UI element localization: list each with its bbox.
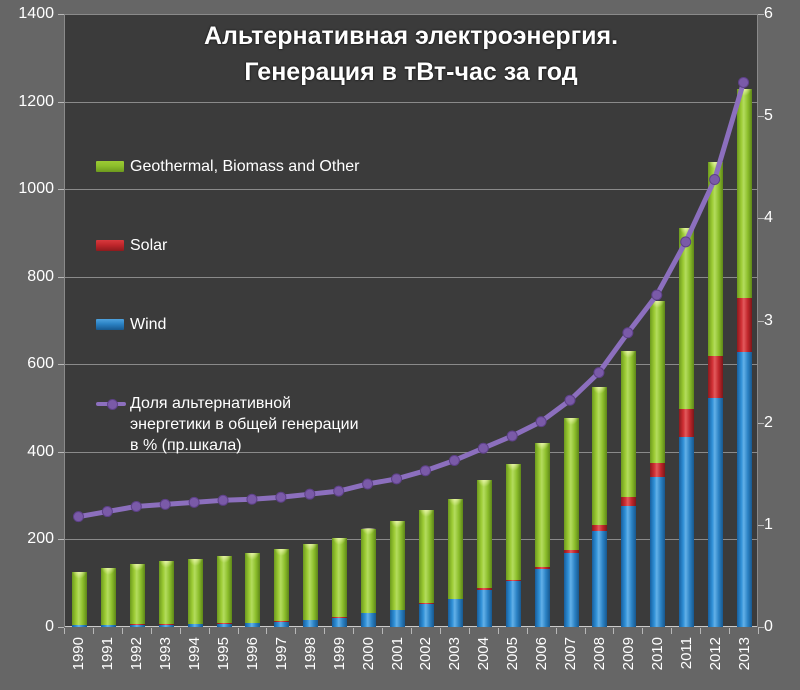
bar-segment[interactable] bbox=[101, 568, 116, 625]
bar-segment[interactable] bbox=[159, 625, 174, 627]
bar-segment[interactable] bbox=[159, 561, 174, 624]
y-axis-left-tickmark bbox=[58, 102, 64, 103]
bar-segment[interactable] bbox=[303, 620, 318, 627]
bar-segment[interactable] bbox=[477, 480, 492, 589]
bar-segment[interactable] bbox=[419, 604, 434, 627]
y-axis-right-tick-label: 2 bbox=[764, 414, 798, 432]
legend-item-label: Wind bbox=[130, 314, 166, 335]
legend-item[interactable]: Доля альтернативной энергетики в общей г… bbox=[96, 393, 359, 456]
legend-item[interactable]: Wind bbox=[96, 314, 166, 335]
bar-segment[interactable] bbox=[390, 521, 405, 610]
y-axis-left-tickmark bbox=[58, 364, 64, 365]
x-axis-tickmark bbox=[266, 628, 267, 634]
y-axis-left-tickmark bbox=[58, 452, 64, 453]
bar-group[interactable] bbox=[245, 553, 260, 627]
bar-segment[interactable] bbox=[101, 625, 116, 627]
y-axis-right-tickmark bbox=[758, 14, 764, 15]
bar-segment[interactable] bbox=[72, 625, 87, 627]
bar-segment[interactable] bbox=[274, 549, 289, 622]
bar-group[interactable] bbox=[303, 544, 318, 627]
x-axis-tickmark bbox=[353, 628, 354, 634]
x-axis-tick-label: 1999 bbox=[331, 637, 348, 670]
gridline bbox=[65, 189, 757, 190]
x-axis-tick-label: 1995 bbox=[215, 637, 232, 670]
x-axis-tickmark bbox=[93, 628, 94, 634]
x-axis-tickmark bbox=[729, 628, 730, 634]
bar-group[interactable] bbox=[506, 464, 521, 627]
y-axis-right-tickmark bbox=[758, 525, 764, 526]
bar-segment[interactable] bbox=[708, 162, 723, 356]
x-axis-tick-label: 1996 bbox=[244, 637, 261, 670]
chart-container: Альтернативная электроэнергия. Генерация… bbox=[0, 0, 800, 690]
y-axis-left-tickmark bbox=[58, 14, 64, 15]
bar-segment[interactable] bbox=[708, 356, 723, 398]
bar-segment[interactable] bbox=[361, 613, 376, 627]
y-axis-right-tick-label: 3 bbox=[764, 312, 798, 330]
x-axis-tickmark bbox=[324, 628, 325, 634]
x-axis-tick-label: 2001 bbox=[389, 637, 406, 670]
bar-segment[interactable] bbox=[650, 477, 665, 627]
x-axis-tickmark bbox=[209, 628, 210, 634]
bar-segment[interactable] bbox=[477, 590, 492, 627]
bar-group[interactable] bbox=[130, 564, 145, 627]
x-axis-tickmark bbox=[556, 628, 557, 634]
bar-segment[interactable] bbox=[245, 623, 260, 627]
bar-segment[interactable] bbox=[592, 387, 607, 525]
y-axis-left-tick-label: 1000 bbox=[0, 180, 54, 198]
y-axis-right-tick-label: 0 bbox=[764, 618, 798, 636]
bar-segment[interactable] bbox=[188, 624, 203, 627]
x-axis-tickmark bbox=[700, 628, 701, 634]
bar-group[interactable] bbox=[535, 443, 550, 627]
bar-segment[interactable] bbox=[188, 559, 203, 624]
bar-group[interactable] bbox=[592, 387, 607, 627]
y-axis-left-tick-label: 1200 bbox=[0, 93, 54, 111]
legend-line-marker-icon bbox=[96, 397, 126, 410]
legend-item[interactable]: Solar bbox=[96, 235, 167, 256]
bar-segment[interactable] bbox=[477, 588, 492, 590]
x-axis-tickmark bbox=[613, 628, 614, 634]
x-axis-tick-label: 2005 bbox=[504, 637, 521, 670]
bar-group[interactable] bbox=[101, 568, 116, 627]
bar-segment[interactable] bbox=[708, 398, 723, 627]
bar-segment[interactable] bbox=[506, 581, 521, 627]
bar-group[interactable] bbox=[188, 559, 203, 627]
chart-title-line-1: Альтернативная электроэнергия. bbox=[64, 18, 758, 54]
y-axis-left-tick-label: 800 bbox=[0, 268, 54, 286]
bar-segment[interactable] bbox=[621, 506, 636, 627]
bar-segment[interactable] bbox=[679, 437, 694, 627]
x-axis-tickmark bbox=[64, 628, 65, 634]
x-axis-tickmark bbox=[151, 628, 152, 634]
y-axis-left-tickmark bbox=[58, 277, 64, 278]
x-axis-tickmark bbox=[382, 628, 383, 634]
y-axis-right-tick-label: 4 bbox=[764, 209, 798, 227]
bar-group[interactable] bbox=[621, 351, 636, 627]
bar-group[interactable] bbox=[737, 89, 752, 627]
x-axis-tick-label: 2000 bbox=[360, 637, 377, 670]
y-axis-left-tickmark bbox=[58, 539, 64, 540]
bar-segment[interactable] bbox=[506, 580, 521, 582]
x-axis-tick-label: 1993 bbox=[157, 637, 174, 670]
x-axis-tick-label: 2007 bbox=[562, 637, 579, 670]
bar-segment[interactable] bbox=[621, 497, 636, 506]
bar-segment[interactable] bbox=[217, 556, 232, 623]
legend-swatch-icon bbox=[96, 319, 124, 330]
x-axis-tick-label: 2013 bbox=[736, 637, 753, 670]
x-axis-tick-label: 2009 bbox=[620, 637, 637, 670]
bar-segment[interactable] bbox=[448, 599, 463, 627]
legend-item-label: Geothermal, Biomass and Other bbox=[130, 156, 359, 177]
y-axis-left-tick-label: 400 bbox=[0, 443, 54, 461]
x-axis-tickmark bbox=[642, 628, 643, 634]
x-axis-tick-label: 2002 bbox=[417, 637, 434, 670]
x-axis-tick-label: 2011 bbox=[678, 637, 695, 669]
bar-segment[interactable] bbox=[737, 298, 752, 352]
y-axis-left-tick-label: 1400 bbox=[0, 5, 54, 23]
bar-segment[interactable] bbox=[332, 538, 347, 617]
bar-group[interactable] bbox=[679, 228, 694, 627]
y-axis-right-tick-label: 6 bbox=[764, 5, 798, 23]
y-axis-right-tickmark bbox=[758, 218, 764, 219]
plot-area bbox=[64, 14, 758, 627]
legend-item[interactable]: Geothermal, Biomass and Other bbox=[96, 156, 359, 177]
y-axis-left-tick-label: 200 bbox=[0, 530, 54, 548]
bar-group[interactable] bbox=[419, 510, 434, 627]
x-axis-tickmark bbox=[527, 628, 528, 634]
bar-segment[interactable] bbox=[130, 564, 145, 624]
x-axis-tickmark bbox=[758, 628, 759, 634]
bar-group[interactable] bbox=[564, 418, 579, 627]
x-axis-tickmark bbox=[180, 628, 181, 634]
x-axis-tick-label: 2008 bbox=[591, 637, 608, 670]
bar-group[interactable] bbox=[477, 480, 492, 627]
y-axis-right-tick-label: 1 bbox=[764, 516, 798, 534]
chart-title-line-2: Генерация в тВт-час за год bbox=[64, 54, 758, 90]
bar-segment[interactable] bbox=[564, 553, 579, 627]
bar-segment[interactable] bbox=[535, 567, 550, 569]
x-axis-tickmark bbox=[122, 628, 123, 634]
bar-group[interactable] bbox=[72, 572, 87, 627]
bar-segment[interactable] bbox=[245, 553, 260, 622]
bar-group[interactable] bbox=[448, 499, 463, 627]
bar-group[interactable] bbox=[650, 301, 665, 627]
bar-segment[interactable] bbox=[737, 352, 752, 627]
x-axis-tickmark bbox=[585, 628, 586, 634]
bar-segment[interactable] bbox=[679, 409, 694, 437]
x-axis-tick-label: 2012 bbox=[707, 637, 724, 670]
x-axis-tickmark bbox=[498, 628, 499, 634]
x-axis-tick-label: 2006 bbox=[533, 637, 550, 670]
y-axis-right-tick-label: 5 bbox=[764, 107, 798, 125]
bar-group[interactable] bbox=[332, 538, 347, 627]
bar-segment[interactable] bbox=[679, 228, 694, 409]
x-axis-tickmark bbox=[295, 628, 296, 634]
bar-group[interactable] bbox=[390, 521, 405, 627]
chart-title: Альтернативная электроэнергия. Генерация… bbox=[64, 18, 758, 91]
bar-group[interactable] bbox=[708, 162, 723, 627]
bar-segment[interactable] bbox=[72, 572, 87, 625]
bar-segment[interactable] bbox=[506, 464, 521, 580]
bar-segment[interactable] bbox=[390, 610, 405, 627]
x-axis-tick-label: 2004 bbox=[475, 637, 492, 670]
bar-segment[interactable] bbox=[535, 569, 550, 627]
bar-segment[interactable] bbox=[564, 418, 579, 549]
y-axis-right-tickmark bbox=[758, 423, 764, 424]
bar-segment[interactable] bbox=[130, 625, 145, 627]
bar-segment[interactable] bbox=[535, 443, 550, 567]
bar-segment[interactable] bbox=[650, 301, 665, 463]
bar-segment[interactable] bbox=[274, 622, 289, 627]
x-axis-tickmark bbox=[671, 628, 672, 634]
x-axis-tick-label: 1991 bbox=[99, 637, 116, 670]
x-axis-tick-label: 1997 bbox=[273, 637, 290, 670]
bar-group[interactable] bbox=[274, 549, 289, 627]
bar-group[interactable] bbox=[361, 528, 376, 627]
x-axis-tickmark bbox=[440, 628, 441, 634]
bar-segment[interactable] bbox=[303, 544, 318, 620]
y-axis-left-tick-label: 600 bbox=[0, 355, 54, 373]
gridline bbox=[65, 102, 757, 103]
x-axis-tick-label: 2003 bbox=[446, 637, 463, 670]
x-axis-tick-label: 1998 bbox=[302, 637, 319, 670]
x-axis-tickmark bbox=[469, 628, 470, 634]
bar-segment[interactable] bbox=[592, 531, 607, 627]
bar-segment[interactable] bbox=[737, 89, 752, 298]
x-axis-tick-label: 2010 bbox=[649, 637, 666, 670]
bar-segment[interactable] bbox=[332, 618, 347, 627]
bar-group[interactable] bbox=[159, 561, 174, 627]
bar-segment[interactable] bbox=[419, 510, 434, 603]
gridline bbox=[65, 14, 757, 15]
bar-segment[interactable] bbox=[621, 351, 636, 497]
x-axis-tickmark bbox=[238, 628, 239, 634]
y-axis-right-tickmark bbox=[758, 321, 764, 322]
bar-segment[interactable] bbox=[592, 525, 607, 530]
bar-segment[interactable] bbox=[650, 463, 665, 477]
x-axis-tick-label: 1992 bbox=[128, 637, 145, 670]
gridline bbox=[65, 277, 757, 278]
bar-segment[interactable] bbox=[564, 550, 579, 553]
bar-segment[interactable] bbox=[448, 499, 463, 599]
bar-segment[interactable] bbox=[217, 624, 232, 628]
y-axis-left-tickmark bbox=[58, 189, 64, 190]
bar-segment[interactable] bbox=[361, 529, 376, 614]
legend-swatch-icon bbox=[96, 240, 124, 251]
legend-item-label: Solar bbox=[130, 235, 167, 256]
legend-swatch-icon bbox=[96, 161, 124, 172]
legend-item-label: Доля альтернативной энергетики в общей г… bbox=[130, 393, 359, 456]
x-axis-tick-label: 1994 bbox=[186, 637, 203, 670]
y-axis-right-tickmark bbox=[758, 116, 764, 117]
x-axis-tick-label: 1990 bbox=[70, 637, 87, 670]
y-axis-left-tick-label: 0 bbox=[0, 618, 54, 636]
bar-group[interactable] bbox=[217, 556, 232, 627]
x-axis-tickmark bbox=[411, 628, 412, 634]
